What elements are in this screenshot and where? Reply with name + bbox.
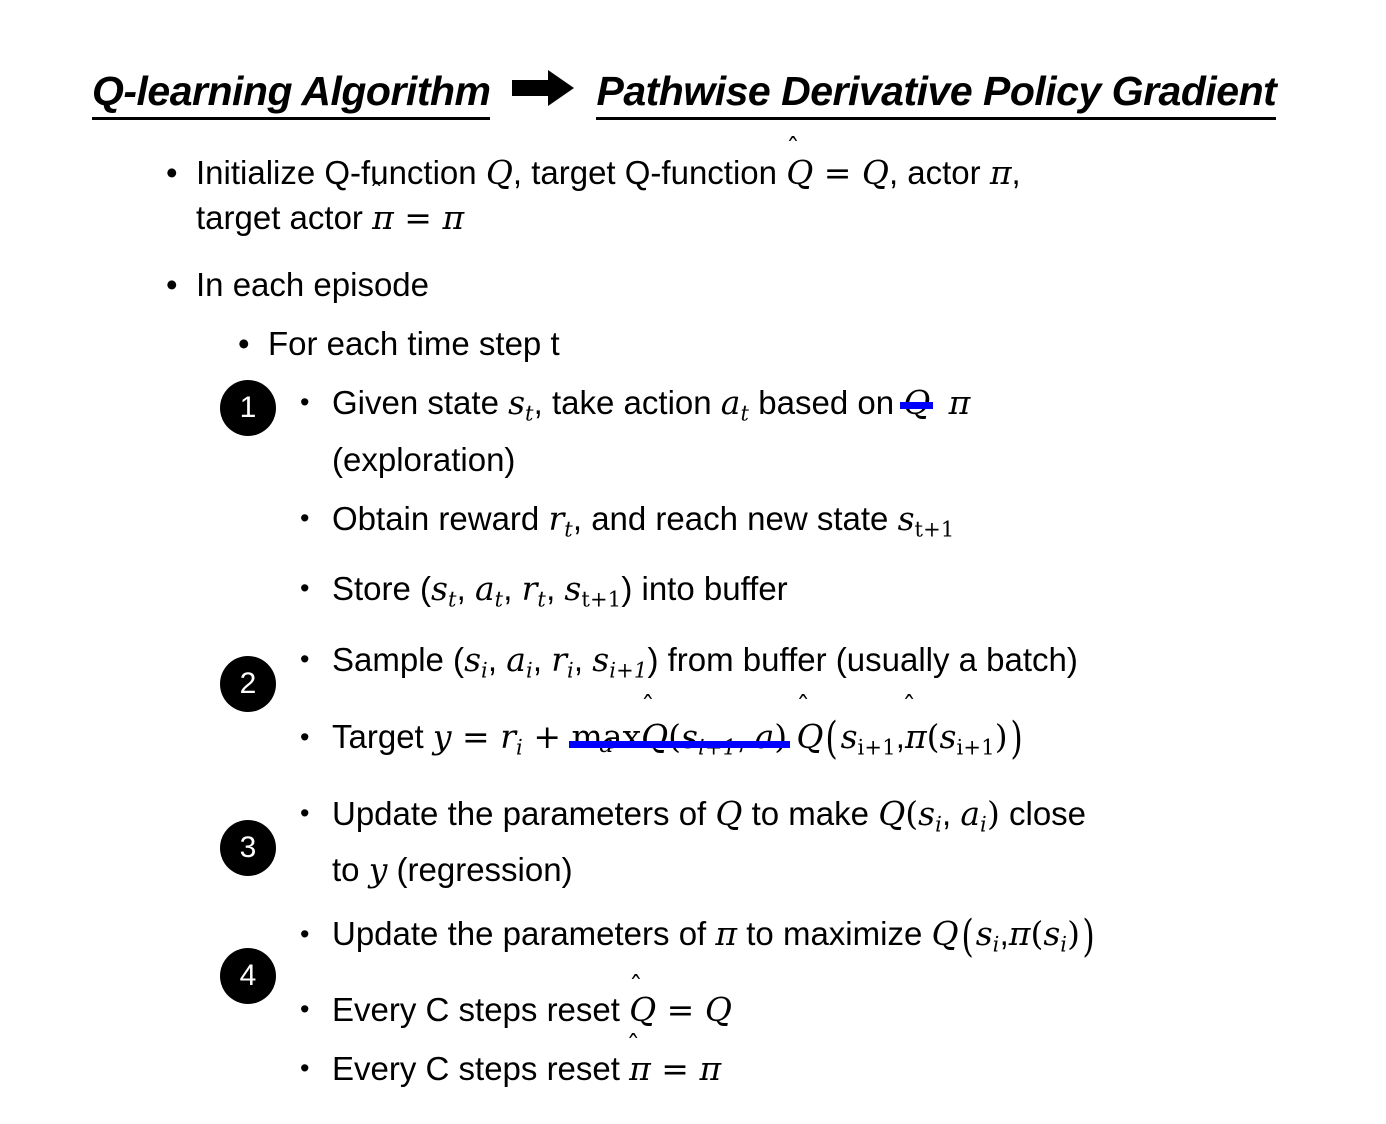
symbol-q-hat: Q <box>641 717 668 756</box>
symbol-pi-2: π <box>442 198 464 237</box>
bullet-marker: • <box>300 791 309 836</box>
symbol-s-subscript: i <box>993 933 1000 957</box>
symbol-s: s <box>464 640 481 679</box>
close-paren-inner: ) <box>995 717 1008 756</box>
equals-sign: = <box>651 1049 700 1088</box>
symbol-a: a <box>506 640 526 679</box>
store-comma-1: , <box>457 570 475 607</box>
obtain-reward-text-1: Obtain reward <box>332 500 548 537</box>
symbol-pi: π <box>715 914 737 953</box>
symbol-s: s <box>508 383 525 422</box>
step-badge-2-label: 2 <box>240 667 257 701</box>
bullet-marker: • <box>238 321 250 366</box>
open-paren: ( <box>905 794 918 833</box>
symbol-q-crossed: Q <box>903 383 930 422</box>
bullet-marker: • <box>300 566 309 611</box>
symbol-a-subscript: i <box>526 659 533 683</box>
title-right: Pathwise Derivative Policy Gradient <box>596 68 1276 120</box>
struck-out-max-term: maxâQ(si+1, a) <box>572 708 788 777</box>
bullet-marker: • <box>300 708 309 766</box>
symbol-r-subscript: i <box>516 736 523 760</box>
bullet-sample: • Sample (si, ai, ri, si+1) from buffer … <box>0 637 1386 694</box>
symbol-a-subscript: t <box>740 402 749 426</box>
bullet-obtain-reward: • Obtain reward rt, and reach new state … <box>0 496 1386 553</box>
step-badge-4: 4 <box>220 948 276 1004</box>
symbol-s: s <box>431 569 448 608</box>
obtain-reward-text-2: , and reach new state <box>573 500 898 537</box>
sample-comma-2: , <box>533 641 551 678</box>
close-paren: ) <box>987 794 1000 833</box>
update-q-comma: , <box>942 795 960 832</box>
store-comma-2: , <box>503 570 521 607</box>
equals-sign: = <box>394 198 443 237</box>
symbol-s-subscript: t <box>448 588 457 612</box>
symbol-q: Q <box>931 914 958 953</box>
symbol-q: Q <box>486 153 513 192</box>
open-paren: ( <box>668 717 681 756</box>
symbol-a: a <box>721 383 741 422</box>
symbol-r: r <box>551 640 567 679</box>
symbol-s-inner-subscript: i+1 <box>956 736 994 760</box>
bullet-target: • Target y = ri + maxâQ(si+1, a) ̂Q(si+… <box>0 708 1386 777</box>
bullet-marker: • <box>166 150 178 195</box>
symbol-s-subscript: t+1 <box>915 517 955 541</box>
reset-pi-text: Every C steps reset <box>332 1050 629 1087</box>
symbol-s: s <box>976 914 993 953</box>
right-arrow-icon <box>512 68 574 108</box>
bullet-initialize-line2: target actor ̂π = π <box>0 195 1386 240</box>
slide-title: Q-learning Algorithm Pathwise Derivative… <box>92 68 1276 120</box>
symbol-s-inner: s <box>1043 914 1060 953</box>
bullet-marker: • <box>300 637 309 682</box>
bullet-update-q-line2: to y (regression) <box>0 847 1386 892</box>
open-paren-inner: ( <box>1030 914 1043 953</box>
initialize-line2-text: target actor <box>196 199 372 236</box>
symbol-a-subscript: i <box>980 812 987 836</box>
close-paren-inner: ) <box>1067 914 1080 953</box>
symbol-pi: π <box>699 1049 721 1088</box>
symbol-a: a <box>755 717 775 756</box>
sample-text-1: Sample ( <box>332 641 464 678</box>
symbol-y: y <box>433 717 452 756</box>
close-paren: ) <box>1010 710 1022 768</box>
sample-comma-3: , <box>574 641 592 678</box>
new-comma: , <box>896 718 905 755</box>
in-each-episode-label: In each episode <box>196 266 429 303</box>
bullet-store: • Store (st, at, rt, st+1) into buffer <box>0 566 1386 623</box>
algorithm-body: • Initialize Q-function Q, target Q-func… <box>0 150 1386 1091</box>
symbol-a-subscript: t <box>495 588 504 612</box>
update-q-text-2: to make <box>742 795 878 832</box>
symbol-q-2: Q <box>862 153 889 192</box>
bullet-marker: • <box>300 380 309 425</box>
symbol-pi-hat: π <box>629 1049 651 1088</box>
initialize-text-2: , target Q-function <box>513 154 786 191</box>
initialize-text-3: , actor <box>889 154 990 191</box>
given-state-text-2: , take action <box>534 384 721 421</box>
title-left: Q-learning Algorithm <box>92 68 490 120</box>
initialize-text-1: Initialize Q-function <box>196 154 486 191</box>
symbol-q-hat-new: Q <box>796 717 823 756</box>
max-subscript: a <box>572 732 642 756</box>
symbol-s-next: s <box>592 640 609 679</box>
symbol-r-subscript: t <box>537 588 546 612</box>
symbol-r: r <box>522 569 538 608</box>
symbol-s-next-subscript: t+1 <box>581 588 621 612</box>
symbol-r-subscript: i <box>567 659 574 683</box>
symbol-a: a <box>475 569 495 608</box>
symbol-q-hat: Q <box>786 153 813 192</box>
bullet-update-pi: • Update the parameters of π to maximize… <box>0 906 1386 973</box>
store-text-1: Store ( <box>332 570 431 607</box>
close-paren: ) <box>774 717 787 756</box>
symbol-s-subscript: i <box>935 812 942 836</box>
bullet-marker: • <box>300 906 309 962</box>
symbol-r: r <box>548 499 564 538</box>
symbol-r-subscript: t <box>564 517 573 541</box>
step-badge-3: 3 <box>220 820 276 876</box>
struck-out-q: Q <box>903 380 930 425</box>
target-text-1: Target <box>332 718 433 755</box>
update-pi-comma: , <box>1000 915 1009 952</box>
step-badge-4-label: 4 <box>240 959 257 993</box>
exploration-label: (exploration) <box>332 441 515 478</box>
close-paren: ) <box>1082 909 1094 965</box>
sample-text-2: ) from buffer (usually a batch) <box>647 641 1077 678</box>
symbol-pi-replacement: π <box>949 383 971 422</box>
bullet-given-state-line2: (exploration) <box>0 437 1386 482</box>
reset-q-text: Every C steps reset <box>332 991 629 1028</box>
store-text-2: ) into buffer <box>621 570 787 607</box>
symbol-pi-2: π <box>1009 914 1031 953</box>
symbol-s: s <box>918 794 935 833</box>
sample-comma-1: , <box>488 641 506 678</box>
equals-sign: = <box>813 153 862 192</box>
symbol-pi: π <box>990 153 1012 192</box>
update-pi-text-1: Update the parameters of <box>332 915 715 952</box>
update-q-text-3: close <box>1000 795 1086 832</box>
bullet-reset-pi: • Every C steps reset ̂π = π <box>0 1046 1386 1091</box>
bullet-marker: • <box>300 1046 309 1091</box>
bullet-for-each-time-step: • For each time step t <box>0 321 1386 366</box>
symbol-pi-hat: π <box>905 717 927 756</box>
update-q-line2-text-2: (regression) <box>387 851 572 888</box>
store-comma-3: , <box>546 570 564 607</box>
bullet-given-state: • Given state st, take action at based o… <box>0 380 1386 437</box>
symbol-s: s <box>841 717 858 756</box>
open-paren-inner: ( <box>927 717 940 756</box>
given-state-text-1: Given state <box>332 384 508 421</box>
bullet-initialize: • Initialize Q-function Q, target Q-func… <box>0 150 1386 195</box>
symbol-a: a <box>960 794 980 833</box>
update-pi-text-2: to maximize <box>737 915 931 952</box>
symbol-s: s <box>898 499 915 538</box>
bullet-in-each-episode: • In each episode <box>0 262 1386 307</box>
symbol-r: r <box>500 717 516 756</box>
equals-sign: = <box>656 990 705 1029</box>
struck-comma: , <box>736 718 754 755</box>
symbol-s-next-subscript: i+1 <box>609 659 647 683</box>
symbol-s-subscript: i <box>481 659 488 683</box>
bullet-reset-q: • Every C steps reset ̂Q = Q <box>0 987 1386 1032</box>
symbol-q-hat: Q <box>629 990 656 1029</box>
symbol-s-inner: s <box>940 717 957 756</box>
step-badge-3-label: 3 <box>240 831 257 865</box>
symbol-q-2: Q <box>878 794 905 833</box>
step-badge-2: 2 <box>220 656 276 712</box>
symbol-y: y <box>369 850 388 889</box>
open-paren: ( <box>826 710 838 768</box>
symbol-s-next: s <box>564 569 581 608</box>
symbol-s-subscript: i+1 <box>698 736 736 760</box>
bullet-marker: • <box>166 262 178 307</box>
for-each-time-step-label: For each time step t <box>268 325 560 362</box>
open-paren: ( <box>961 909 973 965</box>
step-badge-1-label: 1 <box>240 391 257 425</box>
given-state-text-3: based on <box>749 384 903 421</box>
plus-sign: + <box>523 717 572 756</box>
update-q-line2-text-1: to <box>332 851 369 888</box>
symbol-q: Q <box>715 794 742 833</box>
step-badge-1: 1 <box>220 380 276 436</box>
bullet-marker: • <box>300 987 309 1032</box>
symbol-s-subscript: i+1 <box>858 736 896 760</box>
bullet-marker: • <box>300 496 309 541</box>
symbol-s: s <box>681 717 698 756</box>
symbol-pi-hat: π <box>372 198 394 237</box>
bullet-update-q: • Update the parameters of Q to make Q(s… <box>0 791 1386 848</box>
initialize-comma: , <box>1012 154 1021 191</box>
equals-sign: = <box>452 717 501 756</box>
symbol-s-subscript: t <box>525 402 534 426</box>
update-q-text-1: Update the parameters of <box>332 795 715 832</box>
symbol-q: Q <box>705 990 732 1029</box>
